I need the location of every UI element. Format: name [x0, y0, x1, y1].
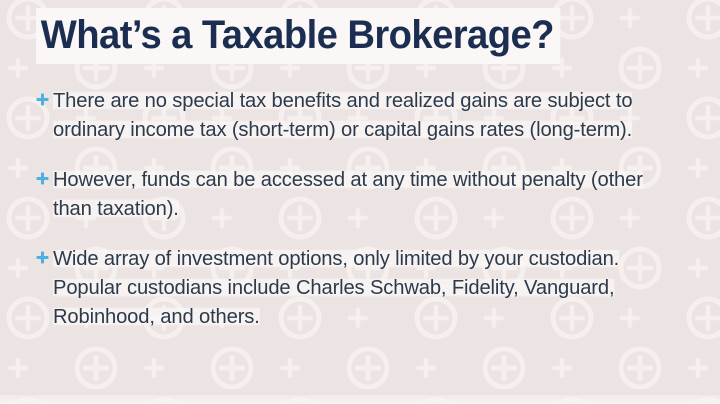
list-item-text: There are no special tax benefits and re… [53, 86, 686, 144]
list-item: Wide array of investment options, only l… [36, 244, 696, 331]
list-item: There are no special tax benefits and re… [36, 86, 696, 144]
bottom-edge-strip [0, 395, 720, 404]
list-item-text: However, funds can be accessed at any ti… [53, 165, 686, 223]
slide-canvas: What’s a Taxable Brokerage? There are no… [0, 0, 720, 404]
list-item-text: Wide array of investment options, only l… [53, 244, 686, 331]
title-container: What’s a Taxable Brokerage? [36, 8, 585, 64]
list-item-text-inner: However, funds can be accessed at any ti… [53, 168, 643, 220]
plus-icon [36, 172, 49, 185]
list-item-text-inner: There are no special tax benefits and re… [53, 89, 632, 141]
plus-icon [36, 251, 49, 264]
plus-icon [36, 93, 49, 106]
page-title: What’s a Taxable Brokerage? [36, 8, 561, 64]
list-item-text-inner: Wide array of investment options, only l… [53, 247, 619, 328]
bullet-list: There are no special tax benefits and re… [36, 86, 696, 331]
list-item: However, funds can be accessed at any ti… [36, 165, 696, 223]
